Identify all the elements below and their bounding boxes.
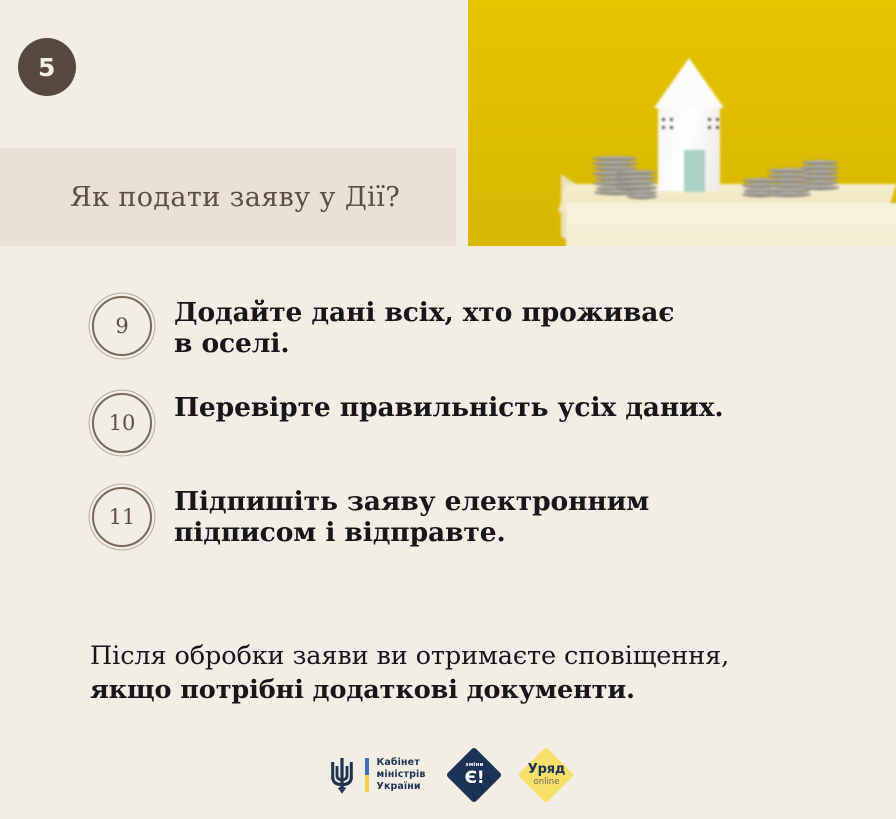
kmu-flag-bar [365, 758, 369, 792]
zmini-big-label: Є! [465, 770, 485, 787]
page-title: Як подати заяву у Дії? [56, 182, 400, 213]
zmini-label-group: зміни Є! [451, 752, 497, 798]
photo-house-roof [654, 58, 724, 108]
photo-coin [627, 194, 657, 199]
photo-house-window-left [662, 118, 674, 130]
uryad-small-label: online [534, 778, 560, 787]
photo-coin [742, 192, 778, 197]
list-item: 9 Додайте дані всіх, хто проживає в осел… [0, 296, 896, 359]
step-text: Додайте дані всіх, хто проживає в оселі. [174, 296, 674, 359]
title-band: Як подати заяву у Дії? [0, 148, 456, 246]
photo-coin [802, 185, 839, 190]
kmu-label: Кабінет міністрів України [377, 757, 426, 793]
uryad-big-label: Уряд [528, 763, 565, 776]
logo-uryad-online: Уряд online [523, 752, 569, 798]
outro-line-bold: якщо потрібні додаткові документи. [90, 674, 830, 708]
step-number-circle: 9 [92, 296, 152, 356]
list-item: 10 Перевірте правильність усіх даних. [0, 391, 896, 453]
uryad-label-group: Уряд online [523, 752, 569, 798]
outro-note: Після обробки заяви ви отримаєте сповіще… [90, 640, 830, 708]
list-item: 11 Підпишіть заяву електронним підписом … [0, 485, 896, 548]
header-zone: 5 Як подати заяву у Дії? [0, 0, 896, 246]
logo-zmini-ye: зміни Є! [451, 752, 497, 798]
step-number-circle: 11 [92, 487, 152, 547]
step-number-circle: 10 [92, 393, 152, 453]
hero-photo [468, 0, 896, 246]
photo-house-window-right [708, 118, 720, 130]
footer-logos: Кабінет міністрів України зміни Є! Уряд … [0, 752, 896, 798]
step-badge: 5 [18, 38, 76, 96]
logo-cabinet-of-ministers: Кабінет міністрів України [327, 756, 426, 794]
tryzub-icon [327, 756, 357, 794]
photo-shelf-face [566, 203, 896, 246]
steps-list: 9 Додайте дані всіх, хто проживає в осел… [0, 296, 896, 548]
photo-house-door [684, 150, 705, 192]
outro-line-regular: Після обробки заяви ви отримаєте сповіще… [90, 640, 830, 674]
step-text: Перевірте правильність усіх даних. [174, 391, 724, 423]
step-text: Підпишіть заяву електронним підписом і в… [174, 485, 649, 548]
